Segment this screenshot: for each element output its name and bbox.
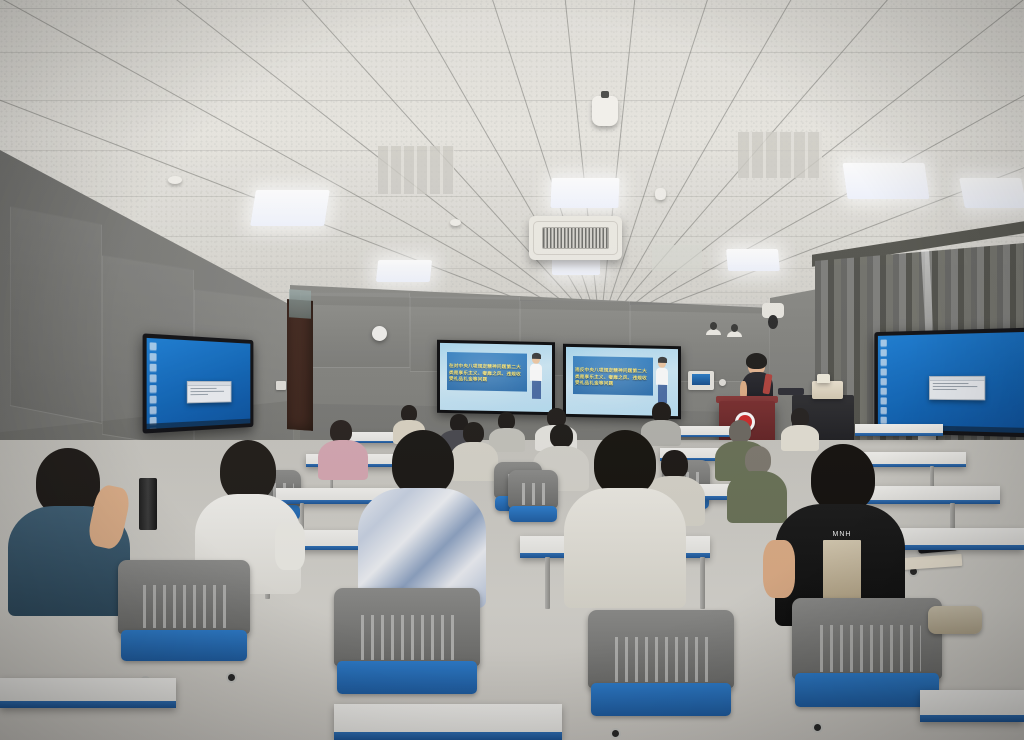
laptop-on-cabinet bbox=[778, 388, 804, 395]
classroom-photo: 在对中央八项规定精神问题第二大类是享乐主义、奢靡之风、违规收受礼品礼金等问题 违… bbox=[0, 0, 1024, 740]
ceiling-light-panel bbox=[842, 163, 929, 199]
attendee-black-graphic-tshirt: MNH bbox=[775, 444, 905, 624]
wall-button[interactable] bbox=[719, 379, 726, 386]
desk-lamp bbox=[817, 374, 830, 383]
left-wall-interactive-display[interactable] bbox=[143, 333, 254, 433]
chair-caster bbox=[812, 722, 823, 733]
training-chair[interactable] bbox=[118, 560, 250, 680]
attendee-arm bbox=[763, 540, 795, 598]
chair-caster bbox=[610, 728, 621, 739]
attendee-arm bbox=[275, 522, 305, 570]
left-display-screen bbox=[147, 338, 251, 429]
left-slide: 在对中央八项规定精神问题第二大类是享乐主义、奢靡之风、违规收受礼品礼金等问题 bbox=[440, 343, 552, 412]
tshirt-print-label: MNH bbox=[823, 531, 861, 538]
training-chair[interactable] bbox=[508, 470, 558, 532]
attendee-torso bbox=[564, 488, 686, 608]
training-chair[interactable] bbox=[588, 610, 734, 736]
ceiling-light-panel bbox=[376, 260, 432, 282]
attendee-head bbox=[392, 430, 454, 496]
thermos-bottle bbox=[139, 478, 157, 530]
classroom-door[interactable] bbox=[287, 299, 313, 431]
training-chair[interactable] bbox=[334, 588, 480, 714]
attendee-head bbox=[220, 440, 276, 502]
ceiling-diffuser-tile bbox=[738, 132, 822, 178]
attendee-navy-polo-glasses bbox=[8, 448, 130, 614]
ceiling-diffuser-tile bbox=[378, 146, 454, 194]
wall-clock bbox=[372, 326, 387, 341]
attendee-head bbox=[594, 430, 656, 496]
training-desk bbox=[855, 424, 943, 436]
ceiling-light-panel bbox=[959, 178, 1024, 208]
training-desk bbox=[334, 704, 562, 740]
air-conditioner-vent bbox=[529, 216, 622, 260]
sprinkler-icon bbox=[450, 219, 461, 226]
ptz-dome-camera-icon bbox=[762, 303, 784, 330]
sprinkler-icon bbox=[168, 176, 182, 184]
wall-panel bbox=[10, 206, 102, 424]
ceiling-light-panel bbox=[550, 178, 619, 208]
system-dialog-box[interactable] bbox=[187, 381, 232, 403]
ceiling-diffuser-tile bbox=[652, 245, 702, 271]
system-dialog-box[interactable] bbox=[929, 376, 985, 400]
right-display-screen bbox=[878, 332, 1024, 433]
door-transom-glass bbox=[289, 289, 311, 319]
training-desk bbox=[0, 678, 176, 708]
document-box bbox=[812, 381, 843, 399]
right-wall-large-display[interactable] bbox=[874, 328, 1024, 438]
presenter-hair bbox=[746, 353, 767, 369]
desktop-icons bbox=[881, 340, 887, 434]
attendee-tan-shirt bbox=[781, 408, 819, 448]
desk-leg bbox=[700, 557, 705, 609]
bag-on-floor bbox=[928, 606, 982, 634]
light-switch-panel[interactable] bbox=[276, 381, 286, 390]
chair-caster bbox=[226, 672, 237, 683]
av-control-panel[interactable] bbox=[688, 371, 714, 390]
training-desk bbox=[920, 690, 1024, 722]
left-projection-screen: 在对中央八项规定精神问题第二大类是享乐主义、奢靡之风、违规收受礼品礼金等问题 bbox=[437, 340, 555, 415]
tshirt-graphic-print: MNH bbox=[823, 540, 861, 606]
taskbar bbox=[147, 419, 251, 429]
ceiling-light-panel bbox=[250, 190, 330, 226]
sprinkler-icon bbox=[655, 188, 666, 200]
ceiling-light-panel bbox=[726, 249, 780, 271]
attendee-tiedye-shirt bbox=[358, 430, 486, 606]
smoke-detector-icon bbox=[592, 96, 618, 126]
attendee-cream-tshirt bbox=[564, 430, 686, 606]
ceiling-sensor-icon bbox=[727, 324, 742, 337]
desktop-icons bbox=[150, 342, 157, 429]
attendee-head bbox=[811, 444, 875, 512]
ceiling-sensor-icon bbox=[706, 322, 721, 335]
desk-leg bbox=[545, 557, 550, 609]
